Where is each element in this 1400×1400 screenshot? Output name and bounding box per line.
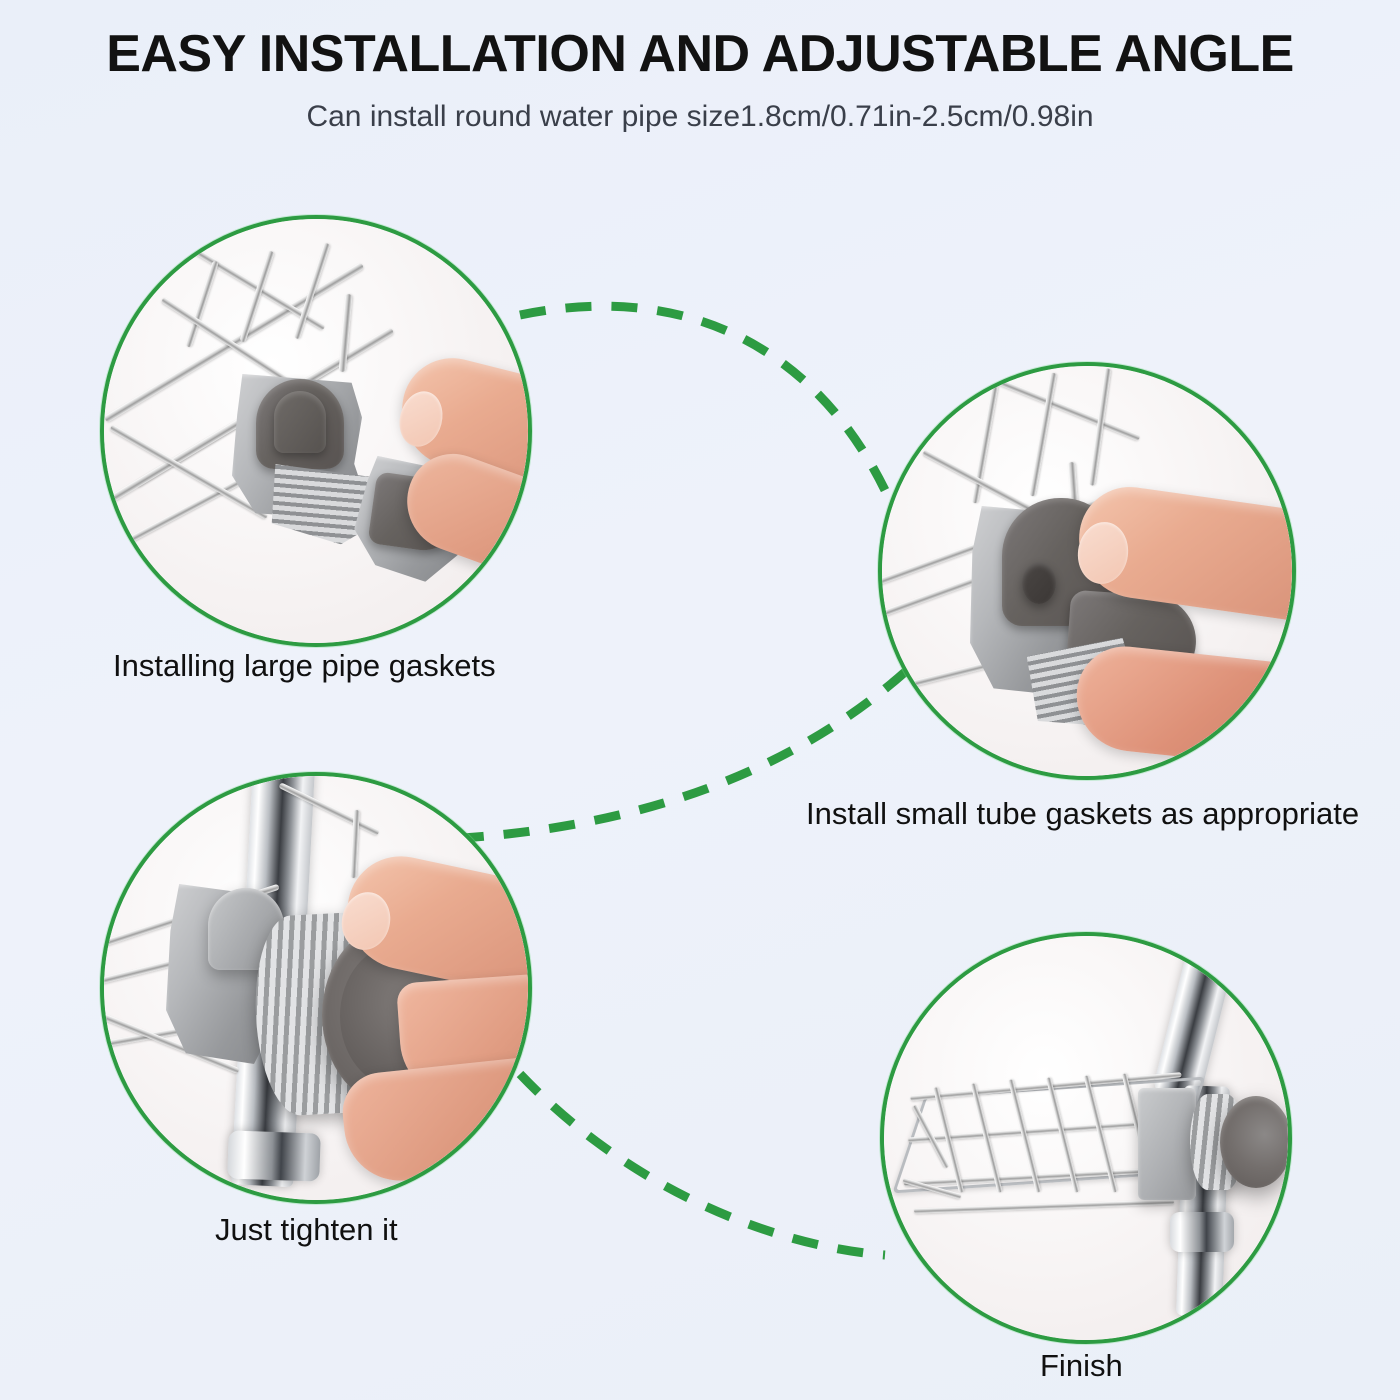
infographic-page: EASY INSTALLATION AND ADJUSTABLE ANGLE C… <box>0 0 1400 1400</box>
step-1-caption: Installing large pipe gaskets <box>113 648 496 684</box>
step-1-illustration <box>104 219 528 643</box>
page-title: EASY INSTALLATION AND ADJUSTABLE ANGLE <box>0 24 1400 84</box>
step-4-caption: Finish <box>1040 1348 1123 1384</box>
step-3-caption: Just tighten it <box>215 1212 398 1248</box>
step-4-illustration <box>884 936 1288 1340</box>
step-2-circle-photo <box>878 362 1296 780</box>
step-3-circle-photo <box>100 772 532 1204</box>
step-2-illustration <box>882 366 1292 776</box>
step-4-circle-photo <box>880 932 1292 1344</box>
connector-3-to-4 <box>520 1074 885 1255</box>
page-subtitle: Can install round water pipe size1.8cm/0… <box>0 100 1400 134</box>
connector-1-to-2 <box>520 306 895 512</box>
step-3-illustration <box>104 776 528 1200</box>
step-2-caption: Install small tube gaskets as appropriat… <box>806 796 1359 832</box>
step-1-circle-photo <box>100 215 532 647</box>
